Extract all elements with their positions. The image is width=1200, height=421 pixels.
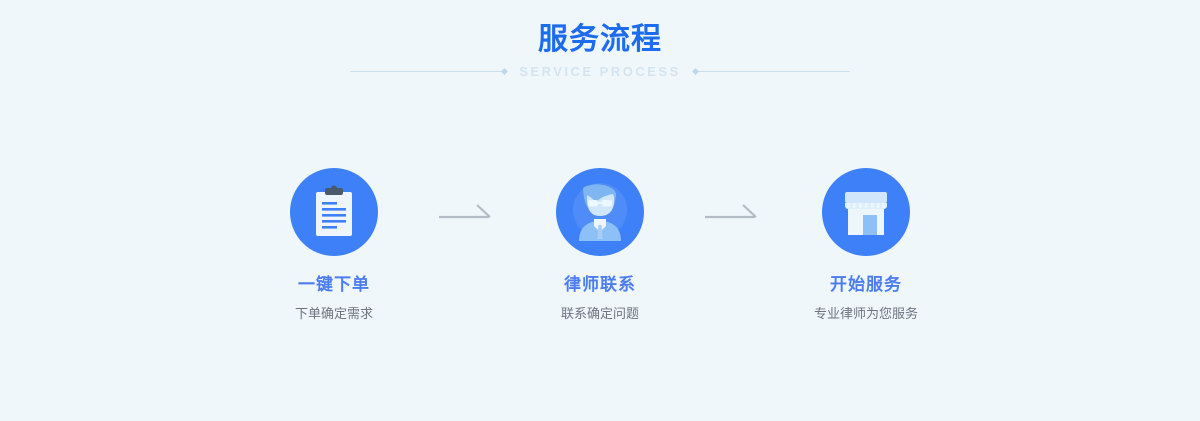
arrow-2 [690,168,776,256]
step-item-3[interactable]: 开始服务 专业律师为您服务 [776,168,956,323]
service-process-steps: 一键下单 下单确定需求 律师联系 联系确定问题 [0,168,1200,323]
divider-line-left [350,71,505,72]
page-subtitle: SERVICE PROCESS [513,64,687,79]
step-desc-1: 下单确定需求 [295,305,373,323]
divider-line-right [695,71,850,72]
step-desc-3: 专业律师为您服务 [814,305,918,323]
step-title-1: 一键下单 [298,274,370,296]
page-title: 服务流程 [0,22,1200,58]
step-desc-2: 联系确定问题 [561,305,639,323]
subtitle-row: SERVICE PROCESS [0,64,1200,79]
clipboard-icon [306,184,362,240]
section-header: 服务流程 SERVICE PROCESS [0,22,1200,79]
arrow-right-icon [439,200,495,224]
arrow-1 [424,168,510,256]
divider-dot-right [692,68,699,75]
step-item-2[interactable]: 律师联系 联系确定问题 [510,168,690,323]
step-title-3: 开始服务 [830,274,902,296]
lawyer-avatar-icon [571,183,629,241]
step-icon-circle-3 [822,168,910,256]
storefront-icon [839,185,893,239]
divider-dot-left [501,68,508,75]
arrow-right-icon [705,200,761,224]
step-icon-circle-1 [290,168,378,256]
step-icon-circle-2 [556,168,644,256]
step-item-1[interactable]: 一键下单 下单确定需求 [244,168,424,323]
step-title-2: 律师联系 [564,274,636,296]
